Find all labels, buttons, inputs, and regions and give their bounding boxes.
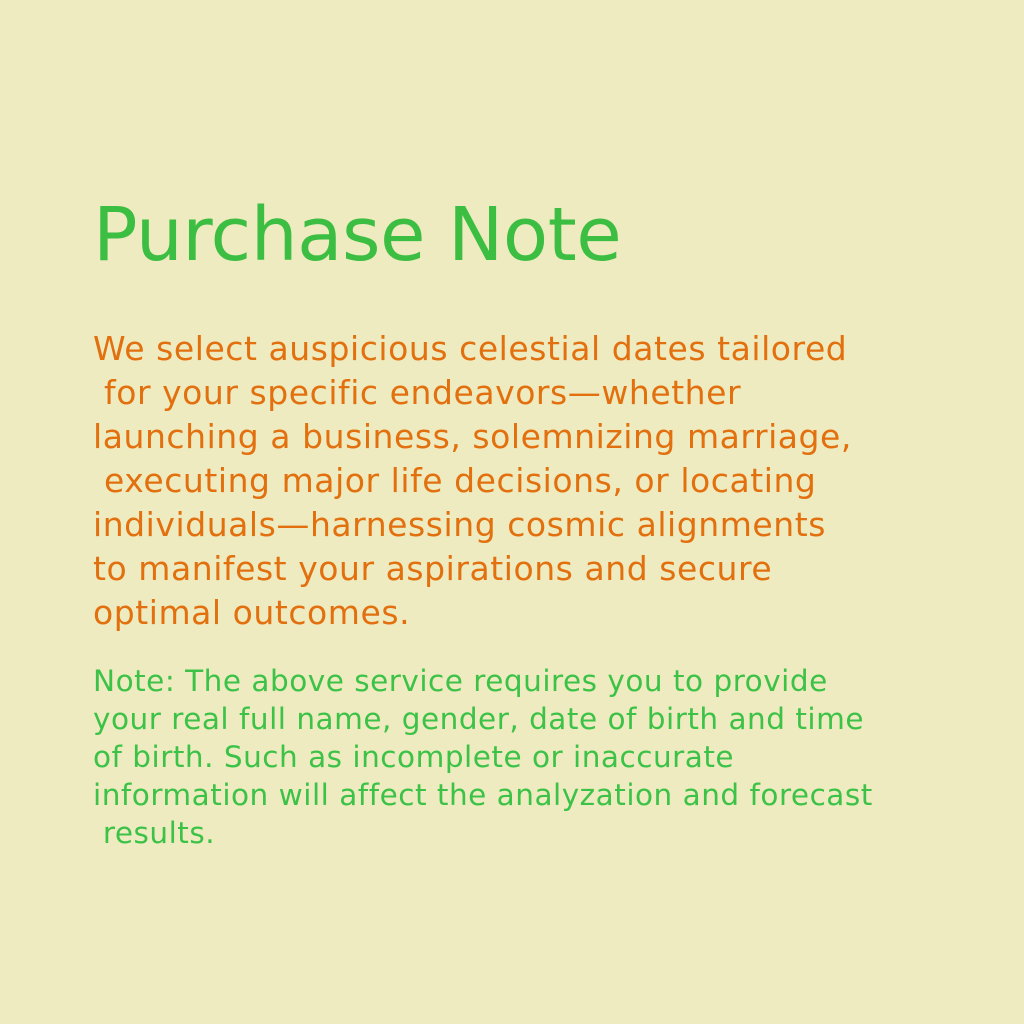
content-container: Purchase Note We select auspicious celes… <box>93 196 973 868</box>
body-block: We select auspicious celestial dates tai… <box>93 327 973 852</box>
service-description-line: We select auspicious celestial dates tai… <box>93 327 973 371</box>
service-description-line: individuals—harnessing cosmic alignments <box>93 503 973 547</box>
purchase-note-card: Purchase Note We select auspicious celes… <box>0 0 1024 1024</box>
service-description-line: to manifest your aspirations and secure <box>93 547 973 591</box>
note-line: information will affect the analyzation … <box>93 776 973 814</box>
note-line: Note: The above service requires you to … <box>93 662 973 700</box>
note-line: of birth. Such as incomplete or inaccura… <box>93 738 973 776</box>
service-description-line: optimal outcomes. <box>93 591 973 635</box>
service-description-line: for your specific endeavors—whether <box>93 371 973 415</box>
service-description-paragraph: We select auspicious celestial dates tai… <box>93 327 973 635</box>
service-description-line: executing major life decisions, or locat… <box>93 459 973 503</box>
note-line: your real full name, gender, date of bir… <box>93 700 973 738</box>
note-line: results. <box>93 814 973 852</box>
service-description-line: launching a business, solemnizing marria… <box>93 415 973 459</box>
page-title: Purchase Note <box>93 196 973 276</box>
note-paragraph: Note: The above service requires you to … <box>93 662 973 852</box>
